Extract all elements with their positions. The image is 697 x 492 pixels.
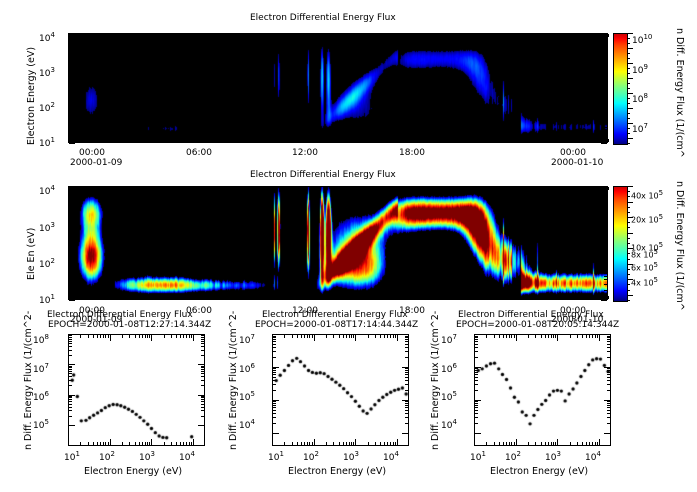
- colorbar-tick: [627, 279, 633, 280]
- axis-tick: [475, 367, 481, 368]
- colorbar-tick: [627, 269, 630, 270]
- axis-tick: [135, 335, 136, 338]
- axis-tick: [428, 139, 429, 142]
- top-cbar-label-wrap: n Diff. Energy Flux (1/(cm^: [685, 28, 697, 39]
- colorbar-tick: [627, 217, 633, 218]
- top-panel-title: Electron Differential Energy Flux: [250, 13, 396, 23]
- axis-tick: [604, 234, 607, 235]
- colorbar-tick: [627, 123, 633, 124]
- axis-tick: [494, 442, 495, 445]
- axis-tick: [405, 423, 408, 424]
- axis-tick: [607, 423, 610, 424]
- axis-tick: [69, 200, 72, 201]
- axis-tick: [273, 390, 276, 391]
- axis-tick: [475, 368, 478, 369]
- axis-tick: [446, 139, 447, 142]
- axis-tick: [273, 367, 279, 368]
- axis-tick: [553, 335, 554, 338]
- axis-tick: [273, 341, 276, 342]
- axis-tick: [122, 442, 123, 445]
- axis-tick: [284, 187, 285, 190]
- axis-tick: [604, 133, 607, 134]
- axis-tick: [69, 110, 75, 111]
- axis-tick: [69, 241, 72, 242]
- axis-tick: [551, 442, 552, 445]
- axis-tick: [604, 111, 607, 112]
- axis-tick: [343, 442, 344, 445]
- axis-tick: [475, 370, 478, 371]
- colorbar-tick: [627, 103, 630, 104]
- axis-tick: [346, 335, 347, 338]
- axis-tick: [607, 344, 610, 345]
- axis-tick: [273, 337, 276, 338]
- axis-tick: [212, 34, 213, 37]
- axis-tick: [604, 279, 607, 280]
- axis-tick: [176, 139, 177, 142]
- axis-tick: [572, 296, 573, 299]
- axis-tick: [592, 442, 593, 445]
- axis-tick: [230, 187, 231, 190]
- axis-tick: [516, 439, 517, 445]
- axis-tick: [201, 367, 204, 368]
- axis-tick: [326, 442, 327, 445]
- axis-tick: [314, 439, 315, 445]
- axis-tick: [339, 442, 340, 445]
- axis-tick: [201, 397, 204, 398]
- mid-cbar-tick-4: 4x 105: [631, 276, 658, 288]
- bottom-panel-2-title: Electron Differential Energy Flux: [458, 310, 604, 320]
- axis-tick: [201, 350, 204, 351]
- axis-tick: [604, 245, 607, 246]
- axis-tick: [69, 395, 75, 396]
- axis-tick: [554, 187, 555, 190]
- axis-tick: [193, 439, 194, 445]
- axis-tick: [151, 335, 152, 341]
- axis-tick: [88, 442, 89, 445]
- axis-tick: [104, 187, 105, 190]
- axis-tick: [582, 442, 583, 445]
- axis-tick: [176, 442, 177, 445]
- axis-tick: [356, 187, 357, 190]
- colorbar-tick: [627, 128, 630, 129]
- colorbar-tick: [627, 88, 630, 89]
- axis-tick: [604, 100, 607, 101]
- axis-tick: [551, 335, 552, 338]
- axis-tick: [69, 84, 72, 85]
- axis-tick: [604, 221, 607, 222]
- axis-tick: [338, 139, 339, 142]
- bottom-panel-0-title: Electron Differential Energy Flux: [47, 310, 193, 320]
- axis-tick: [589, 442, 590, 445]
- axis-tick: [475, 413, 478, 414]
- axis-tick: [122, 34, 123, 37]
- axis-tick: [392, 34, 393, 37]
- axis-tick: [129, 442, 130, 445]
- axis-tick: [69, 48, 72, 49]
- axis-tick: [194, 187, 195, 193]
- bottom-panel-2-frame: [474, 334, 611, 446]
- axis-tick: [69, 202, 72, 203]
- axis-tick: [110, 439, 111, 445]
- axis-tick: [604, 202, 607, 203]
- axis-tick: [604, 204, 607, 205]
- axis-tick: [69, 284, 72, 285]
- top-xtick-1: 06:00: [186, 148, 212, 158]
- axis-tick: [273, 400, 279, 401]
- top-xtick-3: 18:00: [399, 148, 425, 158]
- axis-tick: [273, 423, 276, 424]
- axis-tick: [248, 34, 249, 37]
- axis-tick: [604, 84, 607, 85]
- axis-tick: [69, 46, 72, 47]
- colorbar-tick: [627, 98, 630, 99]
- colorbar-tick: [627, 48, 633, 49]
- axis-tick: [548, 335, 549, 338]
- axis-tick: [475, 357, 478, 358]
- bottom-1-ytick-6: 106: [239, 362, 255, 375]
- axis-tick: [475, 337, 478, 338]
- bottom-0-xtick-2: 102: [99, 450, 115, 463]
- axis-tick: [273, 347, 276, 348]
- axis-tick: [586, 442, 587, 445]
- axis-tick: [599, 335, 600, 341]
- axis-tick: [555, 442, 556, 445]
- axis-tick: [446, 187, 447, 190]
- colorbar-tick: [627, 118, 630, 119]
- axis-tick: [176, 187, 177, 190]
- axis-tick: [518, 293, 519, 299]
- top-panel-ylabel: Electron Energy (eV): [26, 47, 37, 145]
- axis-tick: [604, 80, 607, 81]
- axis-tick: [69, 143, 75, 144]
- axis-tick: [273, 417, 276, 418]
- axis-tick: [164, 442, 165, 445]
- axis-tick: [405, 405, 408, 406]
- axis-tick: [405, 403, 408, 404]
- axis-tick: [151, 439, 152, 445]
- axis-tick: [607, 410, 610, 411]
- axis-tick: [273, 344, 276, 345]
- axis-tick: [302, 34, 303, 40]
- axis-tick: [307, 442, 308, 445]
- axis-tick: [604, 400, 610, 401]
- axis-tick: [191, 442, 192, 445]
- axis-tick: [375, 442, 376, 445]
- axis-tick: [464, 34, 465, 37]
- axis-tick: [69, 371, 72, 372]
- axis-tick: [353, 442, 354, 445]
- axis-tick: [201, 371, 204, 372]
- axis-tick: [604, 81, 607, 82]
- top-cbar-tick-8: 108: [632, 92, 648, 105]
- axis-tick: [511, 442, 512, 445]
- bottom-panel-2-xlabel: Electron Energy (eV): [490, 466, 588, 477]
- axis-tick: [607, 380, 610, 381]
- axis-tick: [69, 127, 72, 128]
- bottom-1-ytick-5: 105: [239, 390, 255, 403]
- axis-tick: [198, 395, 204, 396]
- axis-tick: [604, 239, 607, 240]
- bottom-0-xtick-3: 103: [139, 450, 155, 463]
- axis-tick: [572, 187, 573, 190]
- axis-tick: [607, 341, 610, 342]
- axis-tick: [375, 335, 376, 338]
- axis-tick: [405, 377, 408, 378]
- axis-tick: [80, 335, 81, 338]
- axis-tick: [475, 344, 478, 345]
- axis-tick: [604, 117, 607, 118]
- axis-tick: [176, 335, 177, 338]
- top-plot-frame: [68, 33, 608, 143]
- axis-tick: [201, 335, 204, 336]
- axis-tick: [607, 337, 610, 338]
- axis-tick: [475, 433, 481, 434]
- axis-tick: [104, 296, 105, 299]
- axis-tick: [212, 187, 213, 190]
- axis-tick: [273, 336, 276, 337]
- axis-tick: [147, 335, 148, 338]
- axis-tick: [69, 425, 75, 426]
- axis-tick: [304, 335, 305, 338]
- axis-tick: [604, 66, 607, 67]
- mid-ytick-1: 101: [39, 293, 55, 306]
- axis-tick: [503, 335, 504, 338]
- axis-tick: [194, 136, 195, 142]
- axis-tick: [273, 368, 276, 369]
- axis-tick: [554, 139, 555, 142]
- axis-tick: [474, 439, 475, 445]
- axis-tick: [201, 404, 204, 405]
- axis-tick: [374, 187, 375, 190]
- axis-tick: [69, 53, 72, 54]
- bottom-2-ytick-4: 104: [441, 418, 457, 431]
- colorbar-tick: [627, 202, 633, 203]
- axis-tick: [557, 439, 558, 445]
- axis-tick: [273, 405, 276, 406]
- axis-tick: [69, 80, 72, 81]
- axis-tick: [284, 442, 285, 445]
- axis-tick: [139, 442, 140, 445]
- bottom-panel-1-frame: [272, 334, 409, 446]
- axis-tick: [590, 139, 591, 142]
- axis-tick: [180, 335, 181, 338]
- colorbar-tick: [627, 138, 633, 139]
- axis-tick: [464, 296, 465, 299]
- bottom-1-xtick-1: 101: [268, 450, 284, 463]
- axis-tick: [69, 276, 72, 277]
- axis-tick: [392, 139, 393, 142]
- axis-tick: [604, 50, 607, 51]
- colorbar-tick: [627, 207, 630, 208]
- axis-tick: [397, 439, 398, 445]
- axis-tick: [69, 81, 72, 82]
- axis-tick: [273, 370, 276, 371]
- axis-tick: [486, 335, 487, 338]
- axis-tick: [554, 296, 555, 299]
- axis-tick: [273, 413, 276, 414]
- axis-tick: [69, 115, 72, 116]
- axis-tick: [395, 335, 396, 338]
- axis-tick: [595, 442, 596, 445]
- axis-tick: [392, 187, 393, 190]
- axis-tick: [193, 335, 194, 341]
- colorbar-tick: [627, 38, 630, 39]
- axis-tick: [604, 232, 607, 233]
- axis-tick: [604, 367, 610, 368]
- colorbar-tick: [627, 83, 630, 84]
- axis-tick: [140, 296, 141, 299]
- axis-tick: [201, 380, 204, 381]
- axis-tick: [273, 377, 276, 378]
- axis-tick: [183, 335, 184, 338]
- axis-tick: [346, 442, 347, 445]
- axis-tick: [607, 351, 610, 352]
- axis-tick: [500, 139, 501, 142]
- axis-tick: [149, 335, 150, 338]
- axis-tick: [607, 372, 610, 373]
- axis-tick: [390, 442, 391, 445]
- axis-tick: [69, 269, 72, 270]
- axis-tick: [601, 265, 607, 266]
- axis-tick: [548, 442, 549, 445]
- axis-tick: [475, 407, 478, 408]
- axis-tick: [604, 236, 607, 237]
- axis-tick: [601, 196, 607, 197]
- axis-tick: [516, 335, 517, 341]
- axis-tick: [69, 346, 72, 347]
- axis-tick: [402, 367, 408, 368]
- axis-tick: [506, 335, 507, 338]
- axis-tick: [577, 335, 578, 338]
- axis-tick: [69, 43, 75, 44]
- axis-tick: [572, 139, 573, 142]
- axis-tick: [541, 335, 542, 338]
- axis-tick: [374, 139, 375, 142]
- axis-tick: [248, 139, 249, 142]
- axis-tick: [69, 300, 75, 301]
- axis-tick: [69, 207, 72, 208]
- colorbar-tick: [627, 108, 633, 109]
- axis-tick: [140, 139, 141, 142]
- axis-tick: [201, 369, 204, 370]
- axis-tick: [69, 334, 75, 335]
- axis-tick: [536, 187, 537, 190]
- axis-tick: [201, 339, 204, 340]
- axis-tick: [201, 341, 204, 342]
- axis-tick: [482, 139, 483, 142]
- axis-tick: [69, 78, 72, 79]
- axis-tick: [273, 410, 276, 411]
- axis-tick: [607, 407, 610, 408]
- axis-tick: [171, 335, 172, 338]
- axis-tick: [351, 335, 352, 338]
- axis-tick: [343, 335, 344, 338]
- axis-tick: [69, 50, 72, 51]
- colorbar-tick: [627, 133, 630, 134]
- axis-tick: [149, 442, 150, 445]
- axis-tick: [410, 34, 411, 40]
- axis-tick: [80, 442, 81, 445]
- axis-tick: [171, 442, 172, 445]
- colorbar-tick: [627, 33, 633, 34]
- axis-tick: [405, 384, 408, 385]
- axis-tick: [86, 187, 87, 193]
- axis-tick: [599, 439, 600, 445]
- axis-tick: [69, 279, 72, 280]
- bottom-panel-1-epoch: EPOCH=2000-01-08T17:14:44.344Z: [255, 320, 418, 330]
- bottom-2-ytick-7: 107: [441, 333, 457, 346]
- axis-tick: [592, 335, 593, 338]
- axis-tick: [69, 335, 72, 336]
- axis-tick: [301, 442, 302, 445]
- axis-tick: [284, 139, 285, 142]
- axis-tick: [273, 339, 276, 340]
- axis-tick: [284, 296, 285, 299]
- axis-tick: [410, 136, 411, 142]
- axis-tick: [194, 34, 195, 40]
- axis-tick: [69, 364, 75, 365]
- axis-tick: [604, 45, 607, 46]
- top-colorbar: [613, 33, 628, 145]
- axis-tick: [69, 66, 72, 67]
- top-ytick-2: 102: [39, 101, 55, 114]
- axis-tick: [368, 335, 369, 338]
- axis-tick: [475, 351, 478, 352]
- axis-tick: [536, 34, 537, 37]
- axis-tick: [518, 34, 519, 40]
- mid-cbar-label-wrap: n Diff. Energy Flux (1/(cm^: [685, 181, 697, 192]
- axis-tick: [535, 335, 536, 338]
- axis-tick: [500, 187, 501, 190]
- axis-tick: [405, 351, 408, 352]
- colorbar-tick: [627, 238, 630, 239]
- axis-tick: [266, 296, 267, 299]
- axis-tick: [93, 335, 94, 338]
- colorbar-tick: [627, 73, 630, 74]
- axis-tick: [604, 214, 607, 215]
- axis-tick: [604, 90, 607, 91]
- axis-tick: [93, 442, 94, 445]
- axis-tick: [595, 335, 596, 338]
- axis-tick: [273, 380, 276, 381]
- axis-tick: [69, 231, 75, 232]
- axis-tick: [68, 139, 69, 142]
- axis-tick: [69, 366, 72, 367]
- axis-tick: [553, 442, 554, 445]
- axis-tick: [475, 400, 481, 401]
- axis-tick: [69, 117, 72, 118]
- axis-tick: [475, 403, 478, 404]
- axis-tick: [555, 335, 556, 338]
- axis-tick: [69, 56, 72, 57]
- axis-tick: [607, 357, 610, 358]
- axis-tick: [297, 442, 298, 445]
- axis-tick: [475, 339, 478, 340]
- axis-tick: [189, 442, 190, 445]
- axis-tick: [604, 56, 607, 57]
- axis-tick: [273, 407, 276, 408]
- axis-tick: [464, 139, 465, 142]
- colorbar-tick: [627, 300, 630, 301]
- axis-tick: [607, 374, 610, 375]
- axis-tick: [607, 347, 610, 348]
- axis-tick: [601, 143, 607, 144]
- axis-tick: [405, 374, 408, 375]
- axis-tick: [302, 187, 303, 193]
- axis-tick: [122, 296, 123, 299]
- axis-tick: [69, 255, 72, 256]
- axis-tick: [100, 442, 101, 445]
